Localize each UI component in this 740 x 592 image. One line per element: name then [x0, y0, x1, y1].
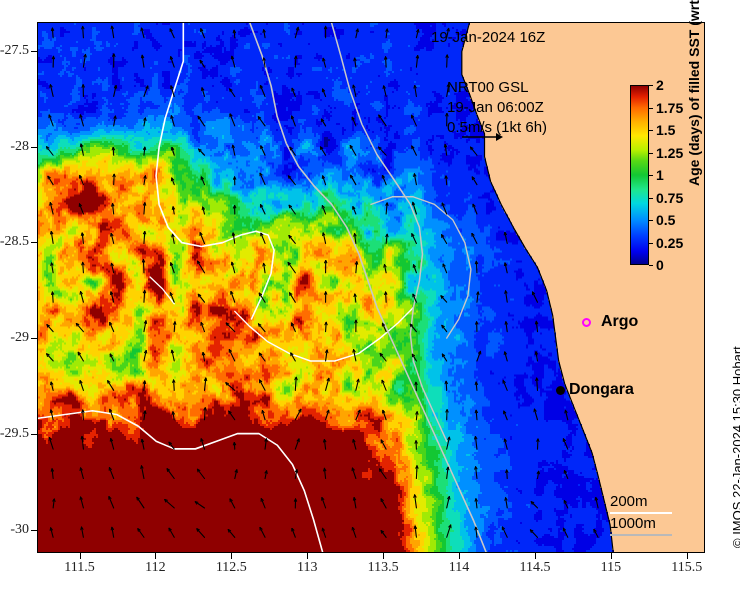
x-tick-mark: [611, 553, 612, 559]
x-tick-label: 114.5: [519, 560, 550, 576]
x-tick-label: 113: [297, 560, 317, 576]
credit-label: © IMOS 22-Jan-2024 15:30 Hobart: [730, 346, 740, 548]
x-tick-label: 112: [145, 560, 165, 576]
y-tick-mark: [31, 434, 37, 435]
x-tick-mark: [383, 553, 384, 559]
x-tick-mark: [307, 553, 308, 559]
model-name-label: NRT00 GSL: [447, 78, 547, 98]
dongara-label: Dongara: [569, 381, 634, 399]
model-info-block: NRT00 GSL 19-Jan 06:00Z 0.5m/s (1kt 6h): [447, 78, 547, 138]
isobath-legend: 200m 1000m: [610, 492, 672, 536]
colorbar-tick-label: 1.75: [656, 100, 683, 116]
x-tick-mark: [687, 553, 688, 559]
colorbar-tick-mark: [649, 243, 653, 244]
colorbar-gradient: [630, 85, 649, 265]
y-tick-mark: [31, 242, 37, 243]
colorbar-tick-label: 1: [656, 167, 664, 183]
y-tick-label: -29.5: [0, 426, 29, 442]
reference-vector-arrow-icon: [460, 130, 504, 144]
timestamp-label: 19-Jan-2024 16Z: [431, 29, 545, 46]
colorbar-tick-mark: [649, 130, 653, 131]
y-tick-mark: [31, 147, 37, 148]
colorbar-title: Age (days) of filled SST (wrt latest): [686, 0, 702, 186]
model-time-label: 19-Jan 06:00Z: [447, 98, 547, 118]
x-tick-label: 115: [601, 560, 621, 576]
y-tick-mark: [31, 51, 37, 52]
x-tick-label: 113.5: [368, 560, 399, 576]
isobath-1000m-rule: [610, 534, 672, 536]
argo-marker-icon: [582, 318, 591, 327]
colorbar-tick-mark: [649, 220, 653, 221]
colorbar-tick-mark: [649, 108, 653, 109]
y-tick-mark: [31, 338, 37, 339]
town-dot-icon: [556, 386, 565, 395]
isobath-200m-label: 200m: [610, 492, 672, 511]
x-tick-mark: [459, 553, 460, 559]
colorbar-tick-label: 0.25: [656, 235, 683, 251]
x-tick-mark: [155, 553, 156, 559]
x-tick-label: 115.5: [671, 560, 702, 576]
y-tick-mark: [31, 530, 37, 531]
argo-legend-entry: Argo: [582, 313, 638, 331]
x-tick-mark: [231, 553, 232, 559]
sst-age-map-figure: 19-Jan-2024 16Z NRT00 GSL 19-Jan 06:00Z …: [0, 0, 740, 592]
map-overlays-layer: [38, 23, 704, 552]
x-tick-mark: [80, 553, 81, 559]
colorbar-tick-mark: [649, 85, 653, 86]
colorbar: 00.250.50.7511.251.51.752: [630, 85, 649, 265]
isobath-1000m-label: 1000m: [610, 514, 672, 533]
x-tick-label: 112.5: [216, 560, 247, 576]
y-tick-label: -28: [10, 139, 29, 155]
colorbar-tick-mark: [649, 198, 653, 199]
y-tick-label: -28.5: [0, 234, 29, 250]
colorbar-tick-label: 0.5: [656, 212, 675, 228]
colorbar-tick-label: 1.5: [656, 122, 675, 138]
y-tick-label: -30: [10, 522, 29, 538]
y-tick-label: -27.5: [0, 43, 29, 59]
colorbar-tick-mark: [649, 265, 653, 266]
colorbar-tick-label: 2: [656, 77, 664, 93]
colorbar-tick-mark: [649, 175, 653, 176]
colorbar-tick-label: 1.25: [656, 145, 683, 161]
y-tick-label: -29: [10, 330, 29, 346]
argo-legend-label: Argo: [601, 313, 638, 331]
colorbar-tick-mark: [649, 153, 653, 154]
x-tick-mark: [535, 553, 536, 559]
dongara-place-marker: Dongara: [556, 381, 634, 399]
colorbar-tick-label: 0.75: [656, 190, 683, 206]
x-tick-label: 111.5: [64, 560, 94, 576]
colorbar-tick-label: 0: [656, 257, 664, 273]
map-plot-area[interactable]: [37, 22, 705, 553]
x-tick-label: 114: [449, 560, 469, 576]
